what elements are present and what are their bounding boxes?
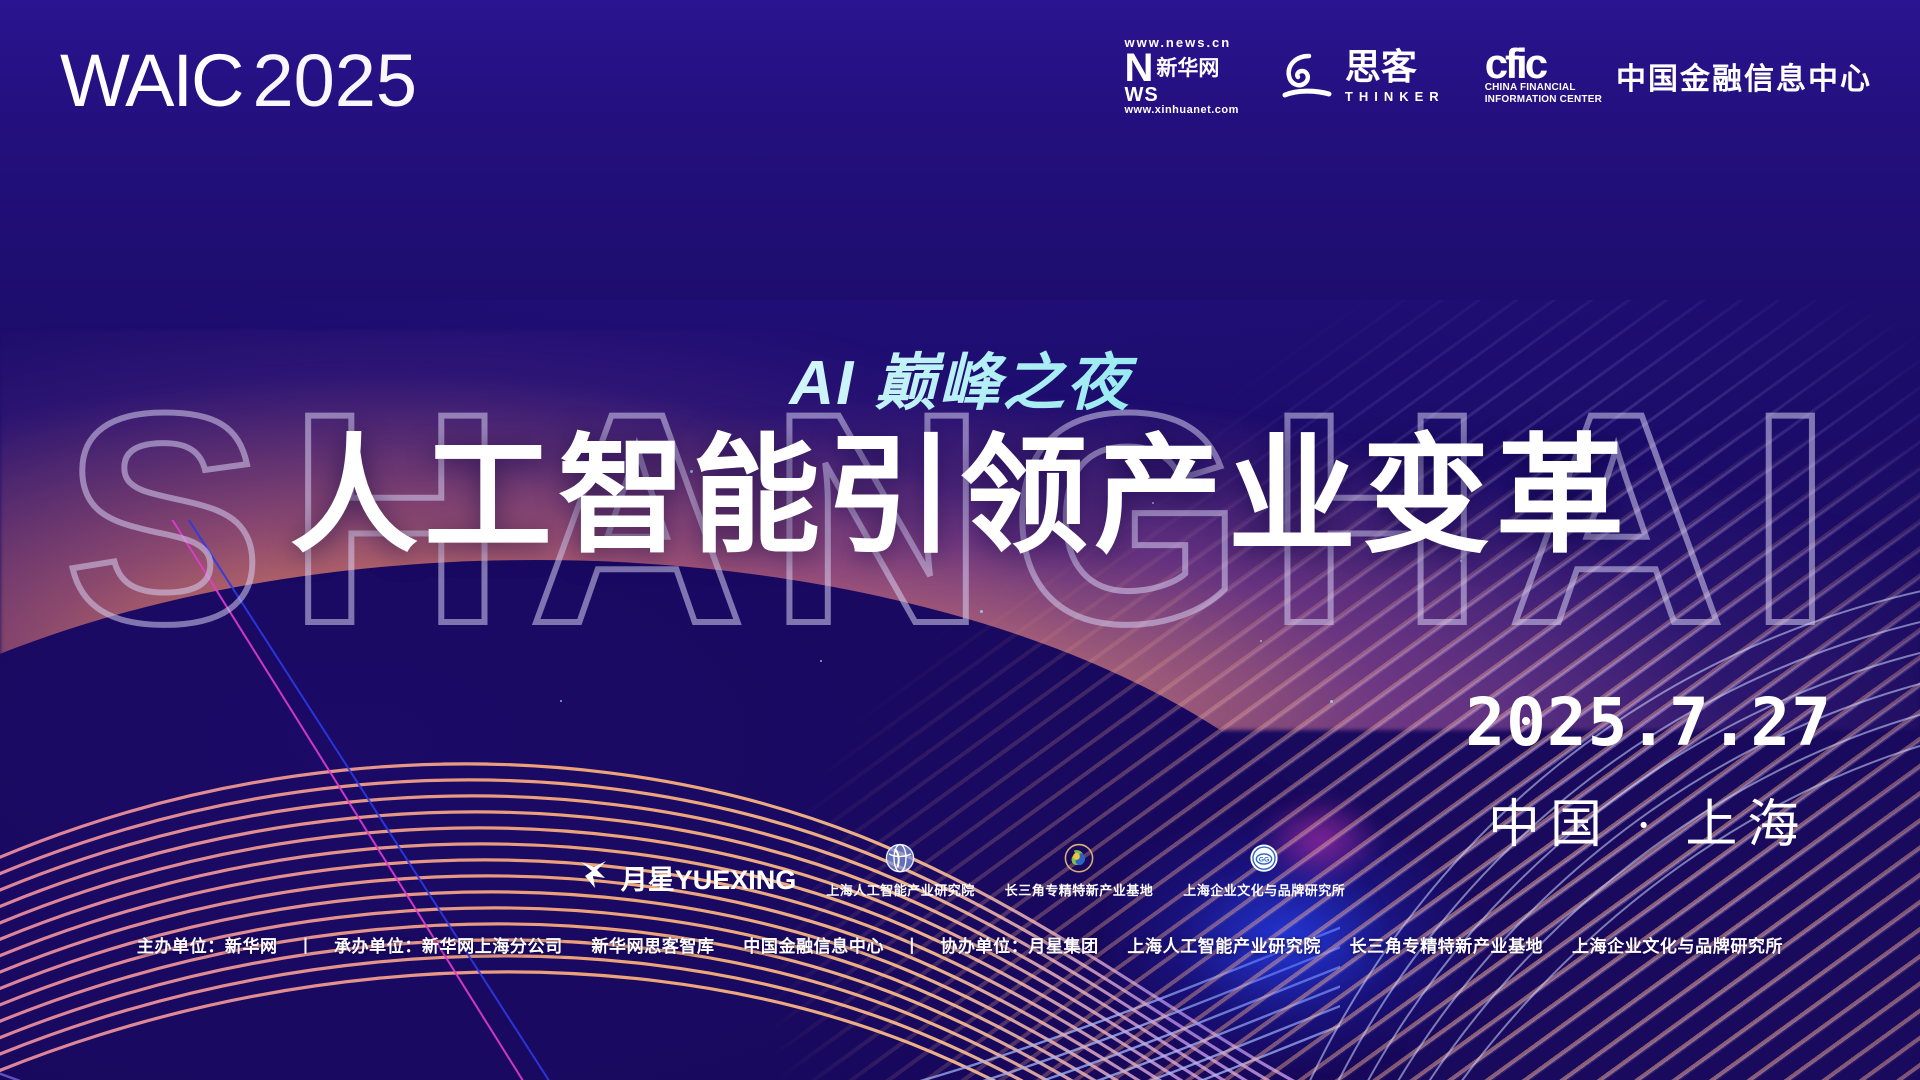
credit-host: 主办单位：新华网 xyxy=(137,937,278,956)
partner-logo-shanghai-ai-institute: 上海人工智能产业研究院 xyxy=(826,842,975,899)
waic-logo-year: 2025 xyxy=(252,38,417,123)
footer-credits: 主办单位：新华网 丨 承办单位：新华网上海分公司 新华网思客智库 中国金融信息中… xyxy=(0,932,1920,957)
partner-logo-bar-top: www.news.cn N 新华网 WS www.xinhuanet.com 思… xyxy=(1124,36,1872,116)
logo-thinker: 思客 THINKER xyxy=(1279,48,1445,104)
cfic-wordmark: cfic xyxy=(1485,46,1545,82)
partner-logo-row: 月星YUEXING 上海人工智能产业研究院 xyxy=(0,842,1920,899)
credit-coorganizer: 协办单位：月星集团 xyxy=(940,937,1098,956)
credit-coorganizer-4: 上海企业文化与品牌研究所 xyxy=(1572,937,1783,956)
seal-badge-icon: GG xyxy=(1247,842,1281,876)
credit-divider-1: 丨 xyxy=(283,932,329,957)
event-date: 2025.7.27 xyxy=(1465,690,1832,756)
star-speck xyxy=(1330,700,1333,703)
credit-organizer-3: 中国金融信息中心 xyxy=(743,937,884,956)
credit-coorganizer-2: 上海人工智能产业研究院 xyxy=(1127,937,1321,956)
cfic-sub-line-1: CHINA FINANCIAL xyxy=(1485,82,1576,94)
cfic-cn-name: 中国金融信息中心 xyxy=(1616,54,1872,98)
cfic-sub-line-2: INFORMATION CENTER xyxy=(1485,94,1602,106)
xinhua-url-bottom: www.xinhuanet.com xyxy=(1124,104,1238,116)
svg-text:GG: GG xyxy=(1259,857,1270,864)
thinker-en-name: THINKER xyxy=(1345,89,1445,104)
credit-coorganizer-3: 长三角专精特新产业基地 xyxy=(1350,937,1544,956)
yuexing-star-icon xyxy=(575,856,613,899)
globe-badge-icon xyxy=(883,842,917,876)
xinhua-nws: WS xyxy=(1124,86,1158,104)
partner-logo-yuexing: 月星YUEXING xyxy=(575,856,797,899)
poster-canvas: SHANGHAI WAIC 2025 www.news.cn N 新华网 WS … xyxy=(0,0,1920,1080)
credit-organizer: 承办单位：新华网上海分公司 xyxy=(334,937,563,956)
partner-logo-yangtze-delta-base: 长三角专精特新产业基地 xyxy=(1005,842,1154,899)
partner-label-yuexing: 月星YUEXING xyxy=(621,858,797,897)
partner-logo-shanghai-culture-brand: GG 上海企业文化与品牌研究所 xyxy=(1183,842,1345,899)
credit-organizer-2: 新华网思客智库 xyxy=(591,937,714,956)
credit-divider-2: 丨 xyxy=(889,932,935,957)
page-title: 人工智能引领产业变革 xyxy=(0,425,1920,568)
star-speck xyxy=(560,700,562,702)
partner-label-shanghai-culture-brand: 上海企业文化与品牌研究所 xyxy=(1183,880,1345,899)
waic-logo-main: WAIC xyxy=(60,38,242,123)
xinhua-cn-name: 新华网 xyxy=(1156,58,1219,79)
ring-badge-icon xyxy=(1062,842,1096,876)
logo-xinhua-news: www.news.cn N 新华网 WS www.xinhuanet.com xyxy=(1124,36,1238,116)
thinker-swirl-icon xyxy=(1279,48,1335,104)
event-subtitle: AI 巅峰之夜 xyxy=(0,332,1920,422)
logo-cfic: cfic CHINA FINANCIAL INFORMATION CENTER … xyxy=(1485,46,1872,106)
partner-label-shanghai-ai-institute: 上海人工智能产业研究院 xyxy=(826,880,975,899)
waic-logo: WAIC 2025 xyxy=(60,38,417,123)
event-date-block: 2025.7.27 中国 · 上海 xyxy=(1465,690,1832,857)
partner-label-yangtze-delta-base: 长三角专精特新产业基地 xyxy=(1005,880,1154,899)
thinker-cn-name: 思客 xyxy=(1345,49,1445,85)
xinhua-big-n: N xyxy=(1124,50,1152,86)
